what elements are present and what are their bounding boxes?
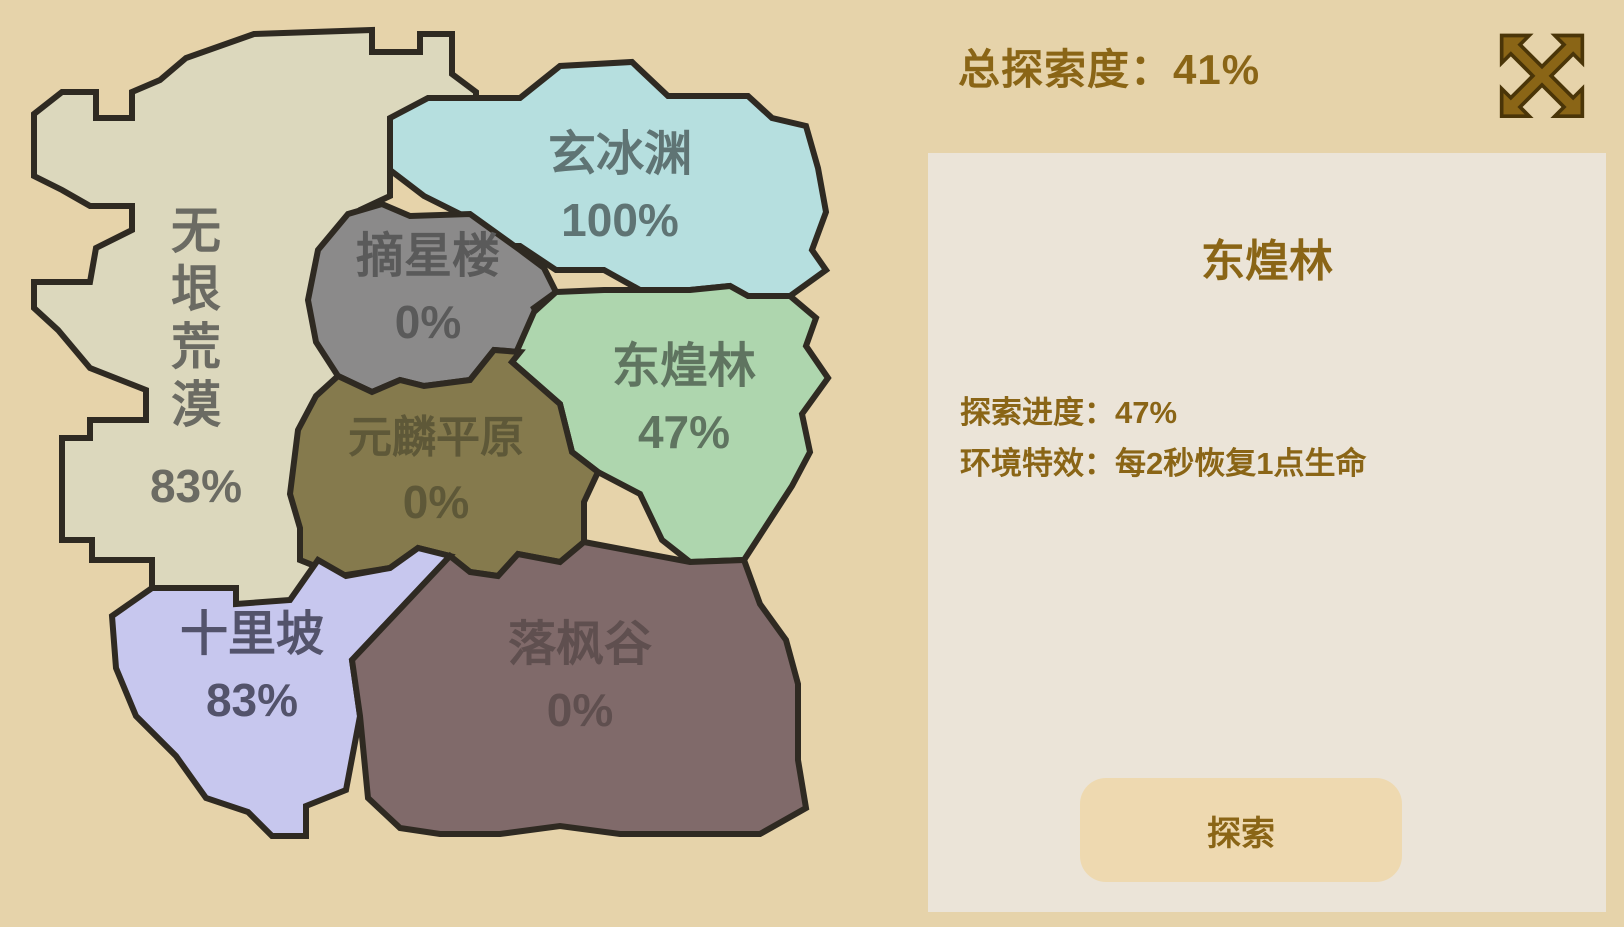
map-svg: 无垠荒漠83%玄冰渊100%摘星楼0%东煌林47%元麟平原0%十里坡83%落枫谷… (0, 0, 920, 927)
map-region-luofeng-gu[interactable] (352, 542, 806, 834)
expand-arrows-x-icon[interactable] (1496, 30, 1588, 118)
expand-arrows-x-icon-glyph (1496, 30, 1588, 118)
panel-region-title: 东煌林 (928, 225, 1606, 289)
total-exploration-label: 总探索度：41% (958, 36, 1260, 97)
panel-stats: 探索进度：47% 环境特效：每2秒恢复1点生命 (960, 390, 1578, 491)
right-column: 总探索度：41% 东煌林 探索进度：47% 环境特效：每2秒恢复1点生命 探索 (920, 0, 1624, 927)
region-info-panel: 东煌林 探索进度：47% 环境特效：每2秒恢复1点生命 探索 (928, 153, 1606, 912)
stat-environment-effect: 环境特效：每2秒恢复1点生命 (960, 441, 1578, 488)
explore-button[interactable]: 探索 (1080, 778, 1402, 882)
region-map: 无垠荒漠83%玄冰渊100%摘星楼0%东煌林47%元麟平原0%十里坡83%落枫谷… (0, 0, 920, 927)
stat-exploration-progress: 探索进度：47% (960, 390, 1578, 437)
